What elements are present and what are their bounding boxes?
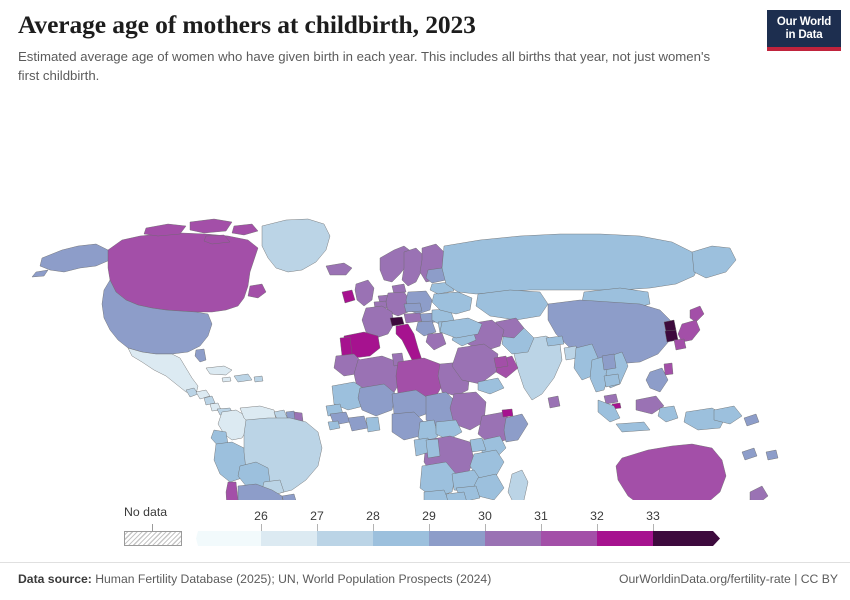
legend-no-data-label: No data [124, 505, 167, 519]
country-austria[interactable] [404, 313, 422, 323]
legend-tick-label-28: 28 [366, 509, 380, 523]
country-madagascar[interactable] [508, 470, 528, 500]
country-portugal[interactable] [340, 337, 352, 356]
country-ireland[interactable] [342, 290, 355, 303]
country-japan[interactable] [690, 306, 704, 322]
legend-tick-label-31: 31 [534, 509, 548, 523]
country-sierra-leone[interactable] [328, 421, 340, 430]
country-fiji[interactable] [766, 450, 778, 460]
legend-tick-29 [429, 524, 430, 531]
country-united-kingdom[interactable] [355, 280, 374, 306]
legend-tick-33 [653, 524, 654, 531]
country-sri-lanka[interactable] [548, 396, 560, 408]
legend-tick-label-27: 27 [310, 509, 324, 523]
legend-tick-label-30: 30 [478, 509, 492, 523]
legend-bin-3[interactable] [373, 531, 429, 546]
chart-header: Average age of mothers at childbirth, 20… [18, 10, 758, 86]
country-somalia[interactable] [504, 414, 528, 442]
country-laos[interactable] [602, 354, 616, 370]
country-russia-east[interactable] [692, 246, 736, 278]
country-djibouti[interactable] [502, 409, 513, 417]
country-congo[interactable] [426, 439, 440, 458]
legend-bin-6[interactable] [541, 531, 597, 546]
country-nepal[interactable] [546, 336, 564, 346]
country-jamaica[interactable] [222, 377, 231, 382]
country-japan-honshu[interactable] [678, 320, 700, 342]
chart-footer: Data source: Human Fertility Database (2… [0, 562, 850, 600]
country-united-states-florida[interactable] [195, 349, 206, 362]
legend-bin-4[interactable] [429, 531, 485, 546]
country-hispaniola[interactable] [234, 374, 252, 382]
country-uruguay[interactable] [282, 494, 297, 500]
footer-source-label: Data source: [18, 572, 92, 586]
legend-tick-label-29: 29 [422, 509, 436, 523]
owid-logo[interactable]: Our World in Data [767, 10, 841, 51]
world-map-container[interactable] [0, 100, 850, 500]
owid-logo-line1: Our World [777, 16, 831, 28]
country-uae[interactable] [494, 356, 508, 368]
country-canada-arctic-1[interactable] [144, 224, 186, 236]
country-canada-arctic-2[interactable] [190, 219, 232, 233]
country-indonesia-sulawesi[interactable] [658, 406, 678, 422]
legend-bin-1[interactable] [261, 531, 317, 546]
country-new-zealand-north[interactable] [750, 486, 768, 500]
legend-bin-0[interactable] [205, 531, 261, 546]
country-indonesia-java[interactable] [616, 422, 650, 432]
country-japan-kyushu[interactable] [674, 339, 686, 350]
owid-logo-line2: in Data [786, 29, 823, 41]
country-alaska[interactable] [40, 244, 110, 272]
country-iceland[interactable] [326, 263, 352, 275]
legend-bin-8[interactable] [653, 531, 709, 546]
legend-bin-7[interactable] [597, 531, 653, 546]
country-kazakhstan[interactable] [476, 290, 548, 320]
country-new-caledonia[interactable] [742, 448, 757, 460]
country-aleutians[interactable] [32, 270, 48, 277]
country-cuba[interactable] [206, 366, 232, 375]
footer-data-source: Data source: Human Fertility Database (2… [18, 572, 491, 586]
legend-low-cap [196, 531, 205, 546]
legend-bin-2[interactable] [317, 531, 373, 546]
country-ivory-coast[interactable] [348, 416, 368, 431]
country-mexico[interactable] [128, 348, 198, 394]
legend-color-scale[interactable]: 2627282930313233 [205, 531, 709, 546]
page-title: Average age of mothers at childbirth, 20… [18, 10, 758, 39]
legend-no-data-swatch[interactable] [124, 531, 182, 546]
country-canada-arctic-3[interactable] [232, 224, 258, 235]
country-taiwan[interactable] [664, 363, 673, 375]
country-solomon-islands[interactable] [744, 414, 759, 426]
country-puerto-rico[interactable] [254, 376, 263, 382]
country-canada[interactable] [108, 233, 258, 312]
legend-no-data-tick [152, 524, 153, 531]
legend-tick-31 [541, 524, 542, 531]
footer-url[interactable]: OurWorldinData.org/fertility-rate | CC B… [619, 572, 838, 586]
legend-tick-26 [261, 524, 262, 531]
country-ghana[interactable] [366, 417, 380, 432]
legend-tick-28 [373, 524, 374, 531]
footer-source-text: Human Fertility Database (2025); UN, Wor… [95, 572, 491, 586]
legend-tick-32 [597, 524, 598, 531]
country-malaysia[interactable] [604, 394, 618, 404]
legend-tick-label-32: 32 [590, 509, 604, 523]
country-australia[interactable] [616, 444, 726, 500]
country-greenland[interactable] [262, 219, 330, 272]
country-czechia[interactable] [404, 303, 422, 312]
legend-bin-5[interactable] [485, 531, 541, 546]
country-greece[interactable] [426, 333, 446, 350]
legend-tick-label-33: 33 [646, 509, 660, 523]
legend-high-arrow [709, 531, 719, 546]
country-canada-newfoundland[interactable] [248, 284, 266, 298]
country-switzerland[interactable] [390, 317, 404, 326]
country-russia[interactable] [442, 234, 700, 294]
world-choropleth-map[interactable] [0, 100, 850, 500]
legend-tick-27 [317, 524, 318, 531]
map-legend: No data 2627282930313233 [0, 505, 850, 555]
chart-subtitle: Estimated average age of women who have … [18, 48, 733, 85]
legend-tick-label-26: 26 [254, 509, 268, 523]
legend-tick-30 [485, 524, 486, 531]
